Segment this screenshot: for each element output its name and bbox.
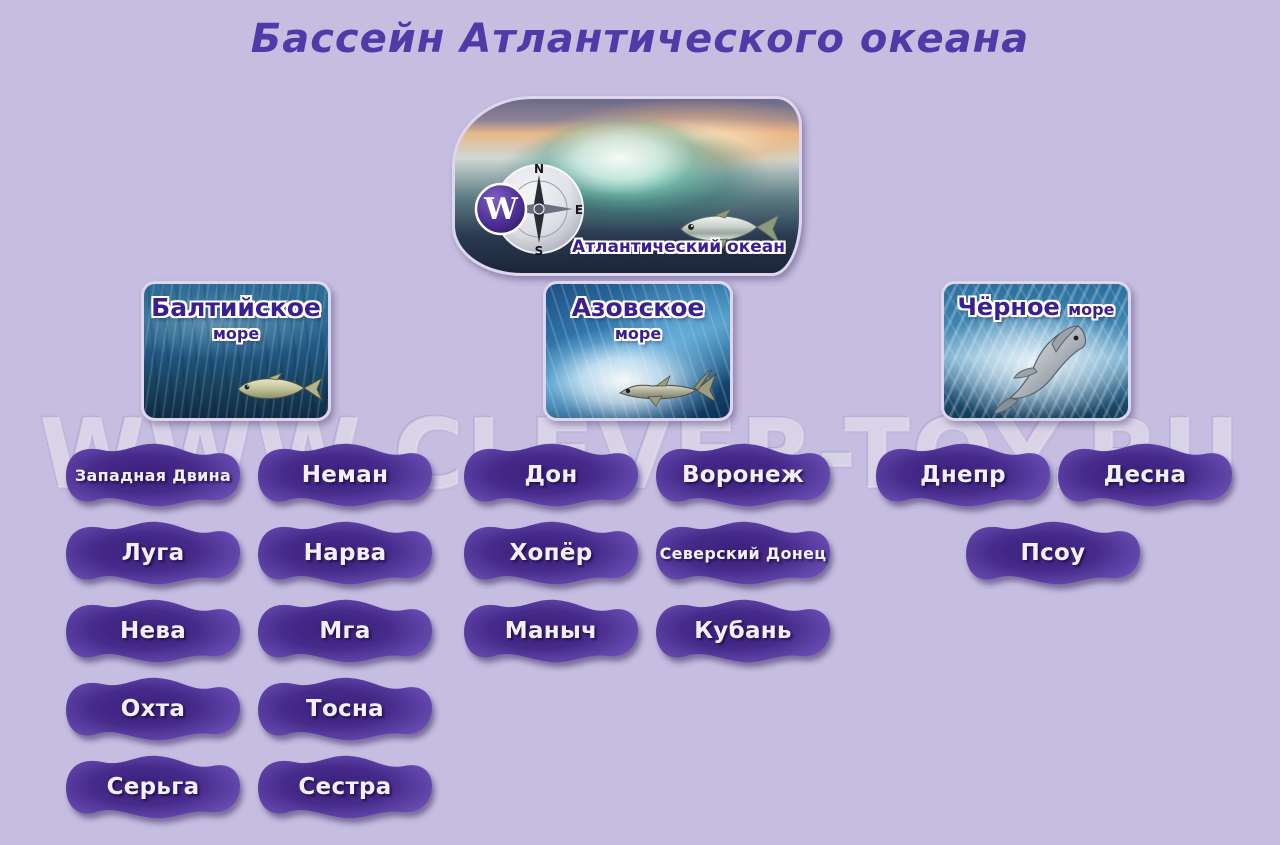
river-blob-azov[interactable]: Северский Донец [652, 518, 834, 588]
poster-canvas: WWW.CLEVER-TOY.RU Бассейн Атлантического… [0, 0, 1280, 845]
sea-card-azov[interactable]: Азовское море [543, 281, 733, 421]
river-label: Серьга [107, 774, 200, 800]
river-blob-baltic[interactable]: Охта [62, 674, 244, 744]
sea-name-black-text: Чёрное [958, 293, 1060, 321]
page-title: Бассейн Атлантического океана [0, 16, 1280, 62]
river-blob-black[interactable]: Псоу [962, 518, 1144, 588]
river-blob-baltic[interactable]: Западная Двина [62, 440, 244, 510]
river-label: Западная Двина [75, 466, 231, 485]
river-label: Маныч [505, 618, 597, 644]
river-blob-azov[interactable]: Воронеж [652, 440, 834, 510]
river-blob-baltic[interactable]: Мга [254, 596, 436, 666]
river-label: Тосна [306, 696, 384, 722]
sea-kind-black: море [1068, 300, 1114, 319]
river-blob-baltic[interactable]: Тосна [254, 674, 436, 744]
river-label: Кубань [694, 618, 792, 644]
river-blob-black[interactable]: Днепр [872, 440, 1054, 510]
sea-card-black[interactable]: Чёрное море [941, 281, 1131, 421]
river-blob-azov[interactable]: Хопёр [460, 518, 642, 588]
river-blob-baltic[interactable]: Луга [62, 518, 244, 588]
river-label: Мга [319, 618, 370, 644]
river-label: Десна [1104, 462, 1187, 488]
sea-name-baltic: Балтийское [144, 293, 328, 322]
river-label: Воронеж [682, 462, 804, 488]
river-blob-azov[interactable]: Дон [460, 440, 642, 510]
river-label: Охта [121, 696, 185, 722]
sea-kind-azov: море [546, 324, 730, 343]
river-label: Хопёр [510, 540, 593, 566]
sea-name-azov: Азовское [546, 293, 730, 322]
river-blob-baltic[interactable]: Нарва [254, 518, 436, 588]
river-label: Дон [524, 462, 577, 488]
sea-name-black: Чёрное море [944, 293, 1128, 321]
river-blob-azov[interactable]: Кубань [652, 596, 834, 666]
river-label: Нева [120, 618, 186, 644]
compass-east-label: E [575, 203, 583, 217]
dolphin-icon [992, 314, 1100, 416]
sea-kind-baltic: море [144, 324, 328, 343]
ocean-label: Атлантический океан [572, 237, 799, 257]
river-label: Днепр [920, 462, 1006, 488]
river-label: Псоу [1021, 540, 1086, 566]
river-label: Неман [302, 462, 389, 488]
river-blob-baltic[interactable]: Неман [254, 440, 436, 510]
river-blob-baltic[interactable]: Серьга [62, 752, 244, 822]
river-blob-black[interactable]: Десна [1054, 440, 1236, 510]
sea-card-baltic[interactable]: Балтийское море [141, 281, 331, 421]
compass-rose-icon: N S E W [471, 159, 587, 259]
river-blob-baltic[interactable]: Нева [62, 596, 244, 666]
ocean-card[interactable]: N S E W Атлантический океан [452, 96, 802, 276]
river-label: Луга [122, 540, 185, 566]
compass-north-label: N [534, 162, 544, 176]
river-label: Нарва [304, 540, 387, 566]
river-label: Сестра [298, 774, 391, 800]
compass-south-label: S [535, 244, 544, 258]
river-label: Северский Донец [660, 544, 827, 563]
river-blob-azov[interactable]: Маныч [460, 596, 642, 666]
salmon-fish-icon [226, 372, 324, 406]
river-blob-baltic[interactable]: Сестра [254, 752, 436, 822]
sturgeon-fish-icon [612, 366, 724, 410]
compass-west-badge-label: W [483, 192, 519, 227]
